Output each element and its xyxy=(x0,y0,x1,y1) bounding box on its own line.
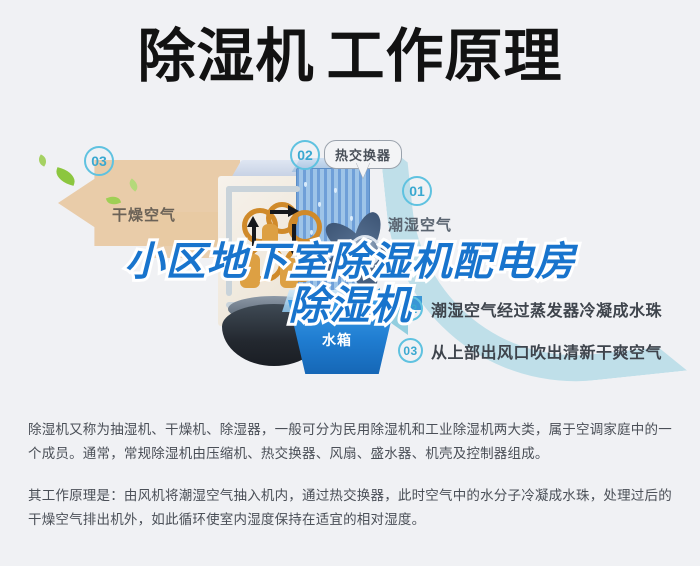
overlay-headline-line1: 小区地下室除湿机配电房 xyxy=(0,240,700,284)
badge-03: 03 xyxy=(84,146,114,176)
flow-arrow-stem xyxy=(270,210,288,214)
leaf-icon xyxy=(36,154,48,166)
page-title-part1: 除湿机 xyxy=(137,24,314,89)
badge-01: 01 xyxy=(402,176,432,206)
page-title-part2: 工作原理 xyxy=(327,24,563,89)
flow-arrow-up xyxy=(247,216,259,227)
flow-arrow-right xyxy=(288,205,299,217)
refrigerant-pipe xyxy=(226,186,300,192)
infographic-page: 除湿机工作原理 干燥空气 xyxy=(0,0,700,566)
overlay-headline-line2: 除湿机 xyxy=(0,284,700,328)
leaf-icon xyxy=(54,167,78,186)
humid-air-label: 潮湿空气 xyxy=(388,214,452,235)
body-paragraph-2: 其工作原理是：由风机将潮湿空气抽入机内，通过热交换器，此时空气中的水分子冷凝成水… xyxy=(28,484,676,532)
badge-02: 02 xyxy=(290,140,320,170)
callout-tail xyxy=(356,162,370,178)
body-paragraph-1: 除湿机又称为抽湿机、干燥机、除湿器，一般可分为民用除湿机和工业除湿机两大类，属于… xyxy=(28,418,676,466)
page-title: 除湿机工作原理 xyxy=(0,26,700,88)
dry-air-label: 干燥空气 xyxy=(112,204,176,225)
overlay-headline: 小区地下室除湿机配电房 除湿机 xyxy=(0,240,700,328)
water-tank-label: 水箱 xyxy=(322,330,352,350)
body-copy: 除湿机又称为抽湿机、干燥机、除湿器，一般可分为民用除湿机和工业除湿机两大类，属于… xyxy=(28,418,676,542)
